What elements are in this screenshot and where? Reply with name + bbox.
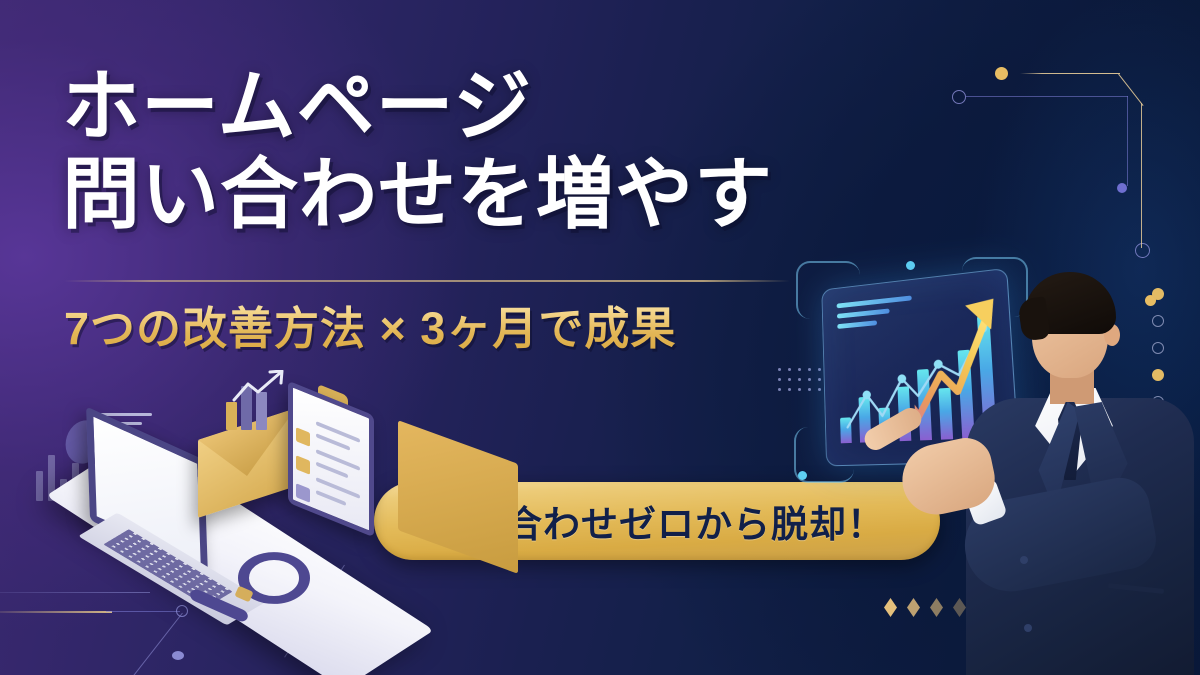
- subheadline: 7つの改善方法 × 3ヶ月で成果: [64, 292, 676, 357]
- diamond-accent-row: [884, 598, 966, 617]
- suit-button: [1024, 624, 1032, 632]
- circuit-ring-node-icon: [952, 90, 966, 104]
- page-title: ホームページ 問い合わせを増やす: [62, 62, 773, 238]
- subheadline-divider: [64, 280, 790, 282]
- circuit-gold-node-icon: [995, 67, 1008, 80]
- circuit-line-gold: [1020, 73, 1120, 74]
- suit-button: [1020, 556, 1028, 564]
- circuit-line: [966, 96, 1128, 97]
- gold-panel-accent: [398, 420, 518, 574]
- diamond-icon: [884, 598, 897, 617]
- diamond-icon: [930, 598, 943, 617]
- mini-bar-chart-icon: [226, 374, 296, 430]
- banner-canvas: ホームページ 問い合わせを増やす 7つの改善方法 × 3ヶ月で成果 問い合わせゼ…: [0, 0, 1200, 675]
- hair: [1024, 272, 1116, 334]
- circuit-line-gold: [1118, 74, 1144, 106]
- hud-node-icon: [798, 471, 807, 480]
- isometric-workspace-illustration: [30, 382, 450, 662]
- circuit-line: [1127, 96, 1128, 186]
- trend-arrow-icon: [232, 370, 290, 404]
- hud-node-icon: [906, 261, 915, 270]
- circuit-purple-node-icon: [1117, 183, 1127, 193]
- circuit-line-gold: [1141, 103, 1142, 248]
- businessman-photo: [958, 246, 1200, 675]
- diamond-icon: [907, 598, 920, 617]
